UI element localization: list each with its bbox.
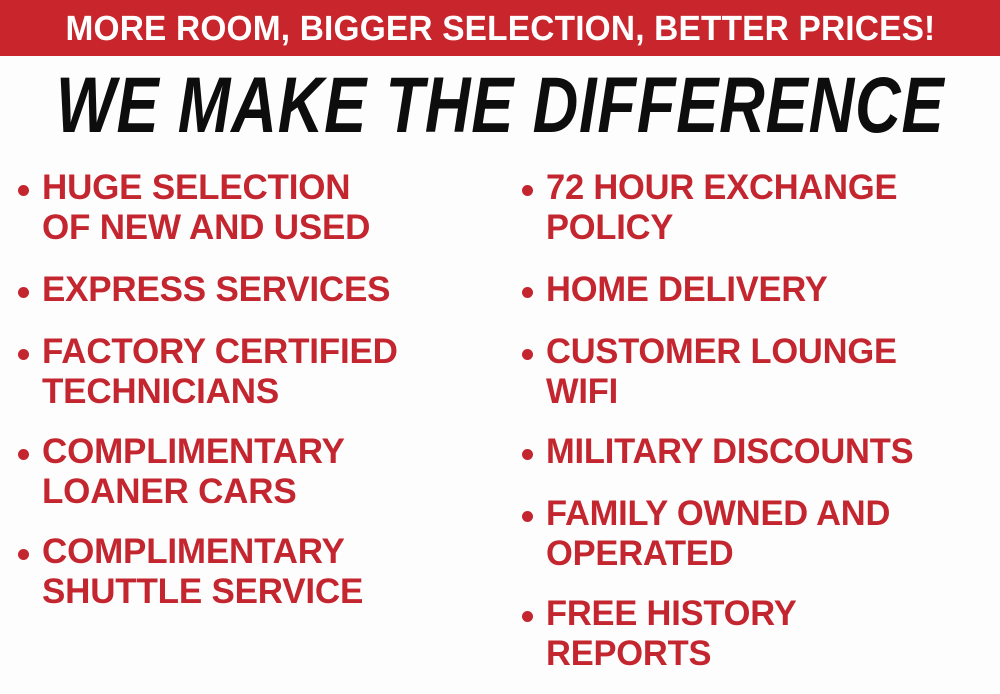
bullet-dot-icon xyxy=(522,349,533,360)
bullet-dot-icon xyxy=(522,511,533,522)
list-item: COMPLIMENTARY LOANER CARS xyxy=(18,432,505,512)
bullet-dot-icon xyxy=(18,549,29,560)
list-item-label: COMPLIMENTARY LOANER CARS xyxy=(42,432,345,512)
page-title: WE MAKE THE DIFFERENCE xyxy=(56,65,944,144)
list-item: FACTORY CERTIFIED TECHNICIANS xyxy=(18,332,505,412)
list-item-label: MILITARY DISCOUNTS xyxy=(546,432,913,472)
list-item: FAMILY OWNED AND OPERATED xyxy=(522,494,1000,574)
bullet-dot-icon xyxy=(18,349,29,360)
list-item: 72 HOUR EXCHANGE POLICY xyxy=(522,168,1000,248)
list-item: MILITARY DISCOUNTS xyxy=(522,432,1000,472)
list-item-label: 72 HOUR EXCHANGE POLICY xyxy=(546,168,897,248)
list-item: EXPRESS SERVICES xyxy=(18,270,505,310)
bullet-dot-icon xyxy=(18,185,29,196)
banner-headline-text: MORE ROOM, BIGGER SELECTION, BETTER PRIC… xyxy=(65,11,935,46)
bullet-dot-icon xyxy=(18,287,29,298)
benefits-column-right: 72 HOUR EXCHANGE POLICY HOME DELIVERY CU… xyxy=(505,155,1000,674)
main-headline-container: WE MAKE THE DIFFERENCE xyxy=(0,66,1000,142)
benefits-columns: HUGE SELECTION OF NEW AND USED EXPRESS S… xyxy=(0,155,1000,694)
bullet-dot-icon xyxy=(522,287,533,298)
list-item: HOME DELIVERY xyxy=(522,270,1000,310)
list-item-label: FREE HISTORY REPORTS xyxy=(546,594,796,674)
list-item-label: FAMILY OWNED AND OPERATED xyxy=(546,494,890,574)
promotional-poster: MORE ROOM, BIGGER SELECTION, BETTER PRIC… xyxy=(0,0,1000,694)
list-item-label: EXPRESS SERVICES xyxy=(42,270,390,310)
list-item-label: HUGE SELECTION OF NEW AND USED xyxy=(42,168,370,248)
list-item: COMPLIMENTARY SHUTTLE SERVICE xyxy=(18,532,505,612)
list-item-label: COMPLIMENTARY SHUTTLE SERVICE xyxy=(42,532,363,612)
benefits-column-left: HUGE SELECTION OF NEW AND USED EXPRESS S… xyxy=(0,155,505,612)
list-item: HUGE SELECTION OF NEW AND USED xyxy=(18,168,505,248)
list-item-label: HOME DELIVERY xyxy=(546,270,828,310)
list-item: FREE HISTORY REPORTS xyxy=(522,594,1000,674)
bullet-dot-icon xyxy=(522,449,533,460)
list-item-label: CUSTOMER LOUNGE WIFI xyxy=(546,332,897,412)
list-item-label: FACTORY CERTIFIED TECHNICIANS xyxy=(42,332,398,412)
bullet-dot-icon xyxy=(522,611,533,622)
top-banner: MORE ROOM, BIGGER SELECTION, BETTER PRIC… xyxy=(0,0,1000,56)
bullet-dot-icon xyxy=(522,185,533,196)
list-item: CUSTOMER LOUNGE WIFI xyxy=(522,332,1000,412)
bullet-dot-icon xyxy=(18,449,29,460)
